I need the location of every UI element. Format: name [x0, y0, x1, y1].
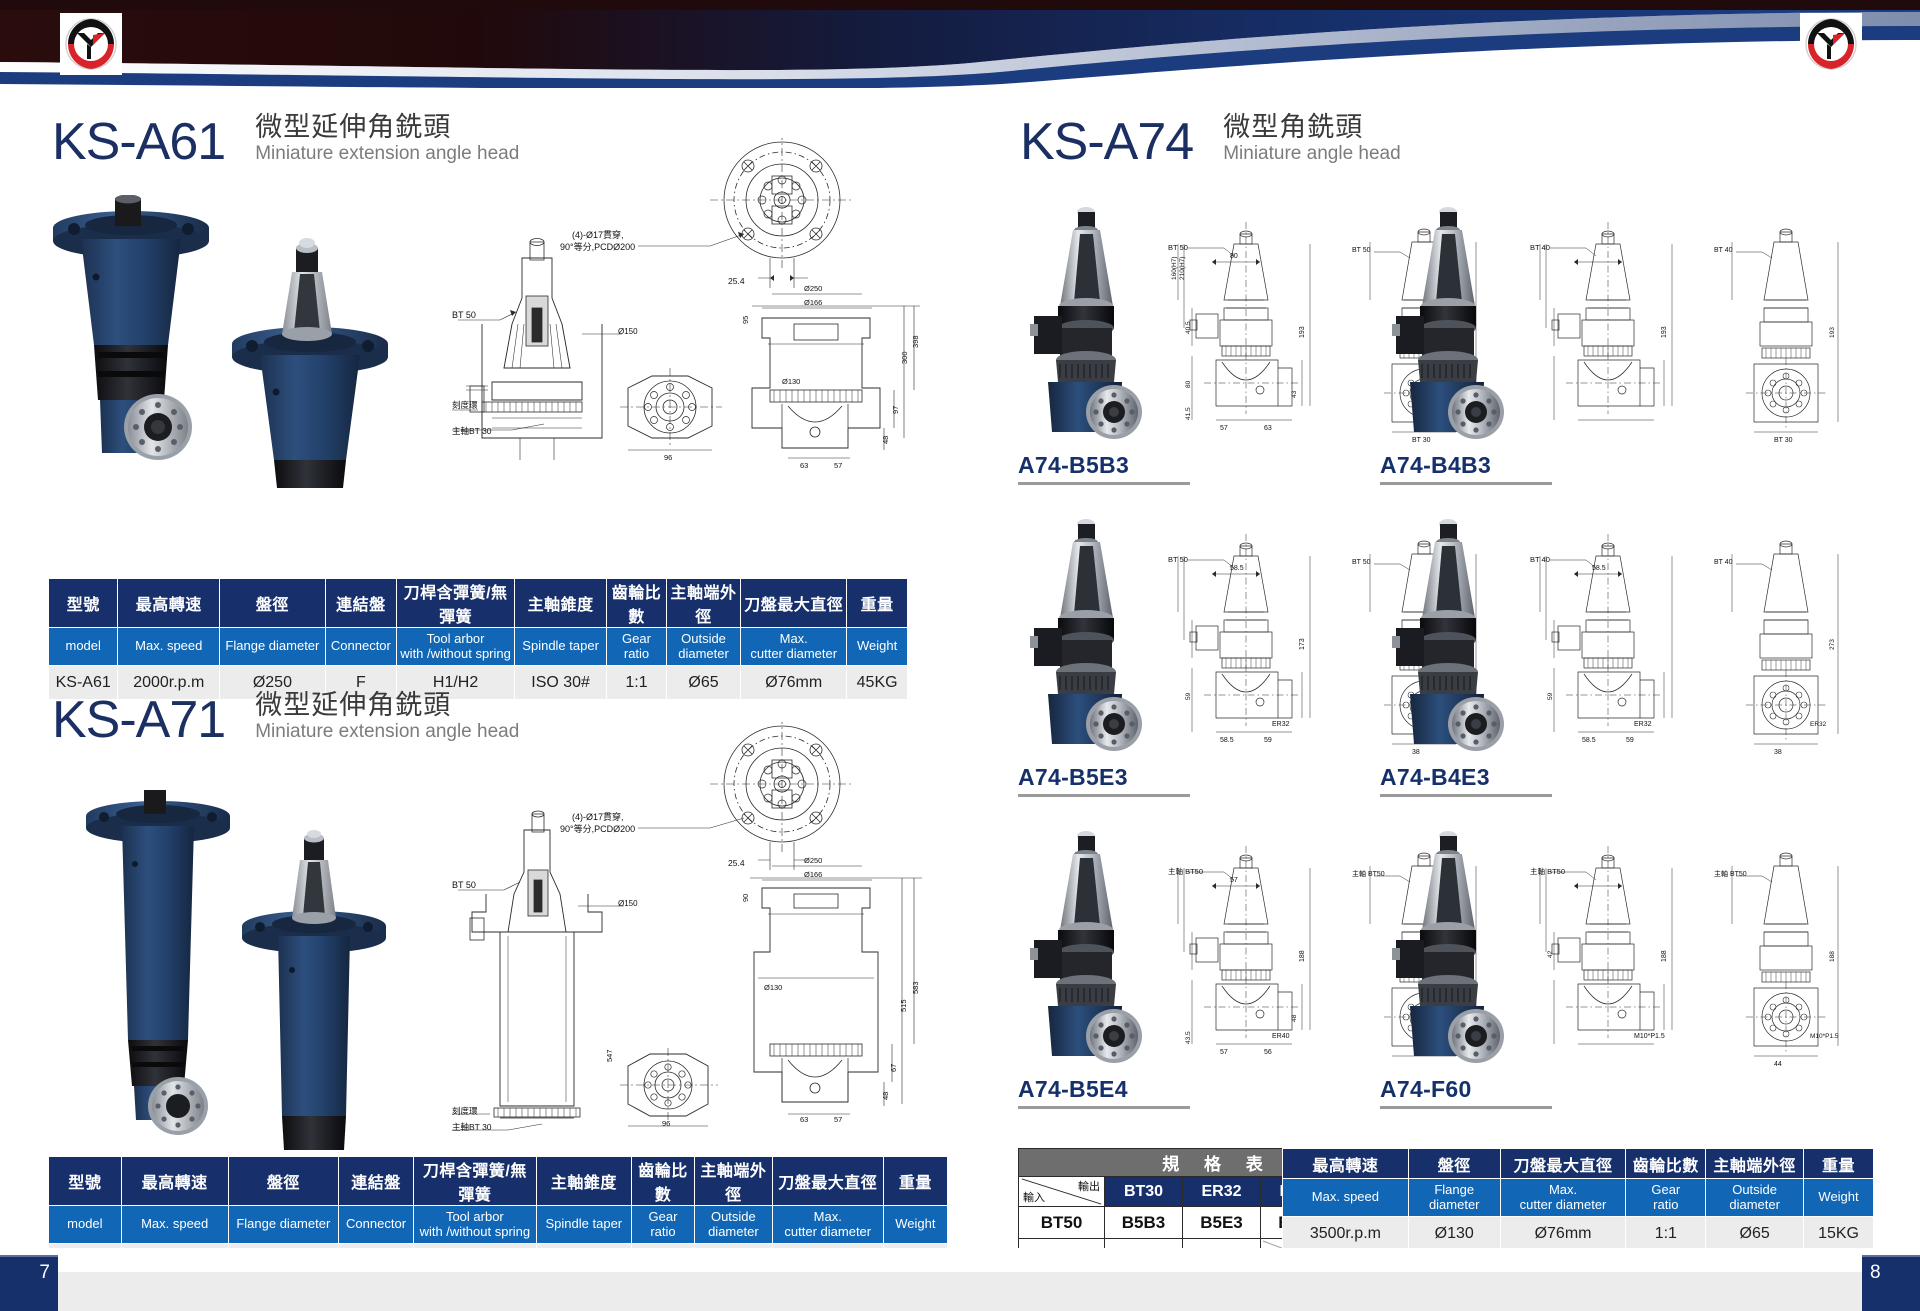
col-header-en: Connector [339, 1206, 414, 1244]
circular-y-emblem-icon [60, 13, 122, 75]
table-header-row-cn: 型號最高轉速盤徑連結盤刀桿含彈簧/無彈簧主軸錐度齒輪比數主軸端外徑刀盤最大直徑重… [49, 1157, 948, 1206]
technical-drawing-a74-f60: 主軸 BT50 188 42 M10*P1.5 [1530, 832, 1730, 1077]
table-cell: 15KG [1804, 1217, 1874, 1251]
col-header-en: Max.cutter diameter [1500, 1179, 1626, 1217]
drawing-collet-label: M10*P1.5 [1634, 1033, 1665, 1040]
col-header-cn: 最高轉速 [121, 1157, 228, 1206]
table-cell: Ø76mm [741, 666, 847, 700]
variant-block: BT 40 193 [1380, 200, 1730, 500]
dim-h-398: 398 [911, 335, 920, 348]
dim-flange-thickness: 25.4 [728, 276, 745, 286]
col-header-cn: 主軸端外徑 [666, 579, 740, 628]
section-title-ks-a61: KS-A61 微型延伸角銑頭 Miniature extension angle… [52, 112, 519, 168]
page-number-right: 8 [1862, 1255, 1920, 1311]
variant-block: BT 50 80 193 160(H7) 210(H7) 40.5 80 41.… [1018, 200, 1368, 500]
variant-label: A74-B4E3 [1380, 764, 1490, 790]
technical-drawing-ks-a61: (4)-Ø17貫穿, 90°等分,PCDØ200 25.4 BT 50 Ø150… [452, 138, 932, 478]
col-header-cn: 刀盤最大直徑 [772, 1157, 883, 1206]
variant-caption: A74-B5B3 [1018, 452, 1190, 489]
dim-w-57: 57 [834, 1115, 842, 1124]
technical-drawing-a74-b5e4: 主軸 BT50 57 188 43.5 57 56 48 ER40 [1168, 832, 1368, 1077]
dim-body-od: Ø166 [804, 870, 822, 879]
drawing-taper-label: 主軸 BT50 [1530, 866, 1565, 876]
dim-w-63: 63 [800, 1115, 808, 1124]
dim-w-57: 57 [834, 461, 842, 470]
table-row: 3500r.p.mØ130Ø76mm1:1Ø6515KG [1283, 1217, 1874, 1251]
variant-label: A74-B4B3 [1380, 452, 1491, 478]
col-header-en: Outsidediameter [1706, 1179, 1804, 1217]
dim-h-67: 67 [889, 1064, 898, 1072]
endview-taper-label: BT 40 [1714, 559, 1733, 566]
variant-caption: A74-F60 [1380, 1076, 1552, 1113]
variant-label: A74-B5B3 [1018, 452, 1129, 478]
matrix-cell: B5B3 [1105, 1207, 1183, 1239]
callout-spindle-bt30: 主軸BT 30 [452, 1122, 492, 1132]
matrix-col-header: BT30 [1105, 1177, 1183, 1207]
col-header-en: Max. speed [118, 628, 220, 666]
variant-label: A74-B5E3 [1018, 764, 1128, 790]
drawing-collet-label: ER32 [1272, 721, 1290, 728]
callout-spindle-bt30: 主軸BT 30 [452, 426, 492, 436]
col-header-cn: 主軸端外徑 [1706, 1149, 1804, 1179]
col-header-cn: 型號 [49, 1157, 122, 1206]
brand-logo-left [60, 13, 122, 75]
product-code: KS-A61 [52, 116, 225, 168]
col-header-en: Outsidediameter [666, 628, 740, 666]
variant-label: A74-F60 [1380, 1076, 1472, 1102]
technical-drawing-endview-a74-b4b3: BT 40 193 BT 30 [1714, 208, 1874, 453]
endview-taper-label: BT 40 [1714, 247, 1733, 254]
dim-h-90: 90 [741, 894, 750, 902]
matrix-axis-in: 輸入 [1023, 1189, 1045, 1205]
table-header-row-en: modelMax. speedFlange diameterConnectorT… [49, 1206, 948, 1244]
endview-taper-label: 主軸 BT50 [1714, 869, 1747, 878]
endview-taper-label: BT 50 [1352, 247, 1371, 254]
table-body: 3500r.p.mØ130Ø76mm1:1Ø6515KG [1283, 1217, 1874, 1251]
matrix-cell: B5E3 [1183, 1207, 1261, 1239]
table-cell: 1:1 [607, 666, 667, 700]
callout-dial-ring: 刻度環 [452, 400, 478, 410]
drawing-dim-80: 80 [1230, 253, 1238, 260]
drawing-dim-b: 80 [1185, 380, 1192, 388]
col-header-cn: 重量 [847, 579, 908, 628]
col-header-cn: 重量 [883, 1157, 947, 1206]
drawing-dim-b: 59 [1547, 692, 1554, 700]
col-header-cn: 盤徑 [1408, 1149, 1500, 1179]
variant-caption: A74-B4B3 [1380, 452, 1552, 489]
dim-h-95: 95 [741, 316, 750, 324]
col-header-en: Max. speed [1283, 1179, 1409, 1217]
drawing-dim-w1: 57 [1220, 1049, 1228, 1056]
caption-underline [1018, 482, 1190, 485]
label-bt50: BT 50 [452, 880, 476, 890]
table-cell: Ø65 [666, 666, 740, 700]
technical-drawing-a74-b4b3: BT 40 193 [1530, 208, 1730, 453]
col-header-en: model [49, 1206, 122, 1244]
note-bolt-line1: (4)-Ø17貫穿, [572, 811, 624, 822]
product-code: KS-A74 [1020, 116, 1193, 168]
dim-h-300: 300 [900, 351, 909, 364]
drawing-collet-label: ER32 [1634, 721, 1652, 728]
drawing-dim-height: 188 [1299, 950, 1306, 962]
drawing-taper-label: BT 50 [1168, 243, 1188, 252]
drawing-dim-w1: 57 [1220, 425, 1228, 432]
product-name-cn: 微型角銑頭 [1223, 112, 1400, 143]
endview-dim-width: 38 [1774, 749, 1782, 756]
spec-table-ks-a61: 型號最高轉速盤徑連結盤刀桿含彈簧/無彈簧主軸錐度齒輪比數主軸端外徑刀盤最大直徑重… [48, 578, 908, 700]
variant-block: BT 50 58.5 173 59 58.5 59 ER32 [1018, 512, 1368, 812]
table-header-row-cn: 型號最高轉速盤徑連結盤刀桿含彈簧/無彈簧主軸錐度齒輪比數主軸端外徑刀盤最大直徑重… [49, 579, 908, 628]
product-photo-a74-b5e4 [1018, 824, 1168, 1077]
col-header-cn: 最高轉速 [118, 579, 220, 628]
table-cell: Ø76mm [1500, 1217, 1626, 1251]
endview-collet: ER32 [1810, 721, 1827, 728]
matrix-axis-out: 輸出 [1078, 1178, 1100, 1194]
technical-drawing-a74-b5e3: BT 50 58.5 173 59 58.5 59 ER32 [1168, 520, 1368, 765]
technical-drawing-a74-b5b3: BT 50 80 193 160(H7) 210(H7) 40.5 80 41.… [1168, 208, 1368, 453]
col-header-en: Spindle taper [536, 1206, 631, 1244]
col-header-cn: 盤徑 [220, 579, 326, 628]
col-header-en: Tool arborwith /without spring [414, 1206, 537, 1244]
product-photo-ks-a71-angle [222, 830, 412, 1150]
col-header-cn: 連結盤 [339, 1157, 414, 1206]
table-cell: 45KG [847, 666, 908, 700]
col-header-en: Tool arborwith /without spring [397, 628, 515, 666]
table-header-row-en: modelMax. speedFlange diameterConnectorT… [49, 628, 908, 666]
product-name-en: Miniature angle head [1223, 143, 1400, 166]
product-photo-a74-b5e3 [1018, 512, 1168, 765]
product-photo-a74-b4e3 [1380, 512, 1530, 765]
variant-label: A74-B5E4 [1018, 1076, 1128, 1102]
col-header-cn: 齒輪比數 [631, 1157, 694, 1206]
dim-h-48: 48 [881, 1092, 890, 1100]
drawing-dim-80: 58.5 [1592, 565, 1606, 572]
drawing-dim-height: 173 [1299, 638, 1306, 650]
variant-block: 主軸 BT50 57 188 43.5 57 56 48 ER40 [1018, 824, 1368, 1124]
col-header-cn: 重量 [1804, 1149, 1874, 1179]
drawing-dim-bore1: 160(H7) [1171, 257, 1178, 280]
endview-dim-width: 44 [1774, 1061, 1782, 1068]
col-header-cn: 刀盤最大直徑 [1500, 1149, 1626, 1179]
table-cell: 3500r.p.m [1283, 1217, 1409, 1251]
spec-table-ks-a74: 最高轉速盤徑刀盤最大直徑齒輪比數主軸端外徑重量 Max. speedFlange… [1282, 1148, 1874, 1251]
table-cell: ISO 30# [515, 666, 607, 700]
drawing-dim-b: 59 [1185, 692, 1192, 700]
variant-block: BT 40 58.5 59 58.5 59 ER32 [1380, 512, 1730, 812]
technical-drawing-a74-b4e3: BT 40 58.5 59 58.5 59 ER32 [1530, 520, 1730, 765]
drawing-dim-d: 48 [1291, 1014, 1298, 1022]
drawing-dim-80: 57 [1230, 877, 1238, 884]
matrix-col-header: ER32 [1183, 1177, 1261, 1207]
dim-w-96: 96 [662, 1119, 670, 1128]
dim-w-63: 63 [800, 461, 808, 470]
col-header-en: Weight [1804, 1179, 1874, 1217]
callout-dial-ring: 刻度環 [452, 1106, 478, 1116]
col-header-en: Gearratio [607, 628, 667, 666]
col-header-en: Max.cutter diameter [741, 628, 847, 666]
col-header-en: Weight [883, 1206, 947, 1244]
caption-underline [1018, 794, 1190, 797]
drawing-dim-c: 41.5 [1185, 407, 1192, 420]
drawing-dim-bore2: 210(H7) [1179, 257, 1186, 280]
dim-h-583: 583 [911, 981, 920, 994]
product-photo-ks-a61-angle [210, 238, 410, 488]
caption-underline [1380, 794, 1552, 797]
footer-white-band [0, 1248, 1920, 1272]
col-header-cn: 盤徑 [228, 1157, 338, 1206]
drawing-dim-w2: 59 [1264, 737, 1272, 744]
drawing-taper-label: BT 40 [1530, 243, 1550, 252]
circular-y-emblem-icon [1800, 13, 1862, 75]
matrix-row-header: BT50 [1019, 1207, 1105, 1239]
matrix-axis-corner: 輸出 輸入 [1019, 1177, 1105, 1207]
col-header-cn: 主軸錐度 [515, 579, 607, 628]
col-header-en: Flange diameter [220, 628, 326, 666]
drawing-dim-height: 193 [1299, 326, 1306, 338]
col-header-en: Outsidediameter [695, 1206, 773, 1244]
col-header-cn: 主軸端外徑 [695, 1157, 773, 1206]
col-header-en: Gearratio [1626, 1179, 1706, 1217]
product-photo-a74-b4b3 [1380, 200, 1530, 453]
drawing-collet-label: ER40 [1272, 1033, 1290, 1040]
product-photo-a74-f60 [1380, 824, 1530, 1077]
product-name-cn: 微型延伸角銑頭 [255, 690, 519, 721]
drawing-dim-a: 40.5 [1185, 321, 1192, 334]
table-cell: 1:1 [1626, 1217, 1706, 1251]
variant-caption: A74-B5E3 [1018, 764, 1190, 801]
dim-h-547: 547 [605, 1049, 614, 1062]
col-header-en: Flangediameter [1408, 1179, 1500, 1217]
col-header-cn: 最高轉速 [1283, 1149, 1409, 1179]
col-header-cn: 刀桿含彈簧/無彈簧 [414, 1157, 537, 1206]
caption-underline [1380, 1106, 1552, 1109]
page-number-left: 7 [0, 1255, 58, 1311]
col-header-en: Max.cutter diameter [772, 1206, 883, 1244]
col-header-en: model [49, 628, 118, 666]
drawing-dim-w2: 59 [1626, 737, 1634, 744]
technical-drawing-endview-a74-b4e3: BT 40 273 38 ER32 [1714, 520, 1874, 765]
drawing-dim-w1: 58.5 [1582, 737, 1596, 744]
col-header-en: Gearratio [631, 1206, 694, 1244]
drawing-taper-label: 主軸 BT50 [1168, 866, 1203, 876]
drawing-dim-height: 188 [1661, 950, 1668, 962]
drawing-dim-a: 42 [1547, 950, 1554, 958]
col-header-en: Flange diameter [228, 1206, 338, 1244]
dim-spigot: Ø150 [618, 899, 638, 908]
section-title-ks-a74: KS-A74 微型角銑頭 Miniature angle head [1020, 112, 1401, 168]
col-header-cn: 齒輪比數 [1626, 1149, 1706, 1179]
col-header-en: Connector [325, 628, 396, 666]
col-header-cn: 型號 [49, 579, 118, 628]
caption-underline [1380, 482, 1552, 485]
endview-dim-width: BT 30 [1774, 437, 1793, 444]
col-header-en: Max. speed [121, 1206, 228, 1244]
drawing-taper-label: BT 40 [1530, 555, 1550, 564]
dim-h-515: 515 [899, 999, 908, 1012]
drawing-dim-w2: 63 [1264, 425, 1272, 432]
endview-dim-height: 273 [1829, 639, 1836, 650]
table-cell: Ø130 [1408, 1217, 1500, 1251]
dim-body-od: Ø166 [804, 298, 822, 307]
note-bolt-line2: 90°等分,PCDØ200 [560, 823, 635, 834]
dim-spigot: Ø150 [618, 327, 638, 336]
dim-flange-od: Ø250 [804, 284, 822, 293]
dim-h-48: 48 [881, 436, 890, 444]
drawing-dim-w1: 58.5 [1220, 737, 1234, 744]
drawing-dim-80: 58.5 [1230, 565, 1244, 572]
endview-collet: M10*P1.5 [1810, 1033, 1839, 1040]
variant-caption: A74-B4E3 [1380, 764, 1552, 801]
dim-w-96: 96 [664, 453, 672, 462]
col-header-cn: 連結盤 [325, 579, 396, 628]
col-header-en: Spindle taper [515, 628, 607, 666]
technical-drawing-ks-a71: (4)-Ø17貫穿, 90°等分,PCDØ200 25.4 BT 50 Ø150… [452, 722, 932, 1142]
table-header-row-cn: 最高轉速盤徑刀盤最大直徑齒輪比數主軸端外徑重量 [1283, 1149, 1874, 1179]
drawing-dim-height: 193 [1661, 326, 1668, 338]
section-title-ks-a71: KS-A71 微型延伸角銑頭 Miniature extension angle… [52, 690, 519, 746]
endview-dim-height: 193 [1829, 327, 1836, 338]
dim-flange-thickness: 25.4 [728, 858, 745, 868]
col-header-cn: 刀桿含彈簧/無彈簧 [397, 579, 515, 628]
brand-logo-right [1800, 13, 1862, 75]
col-header-cn: 主軸錐度 [536, 1157, 631, 1206]
endview-dim-height: 188 [1829, 951, 1836, 962]
drawing-dim-c: 43.5 [1185, 1031, 1192, 1044]
dim-body-small: Ø130 [782, 377, 800, 386]
table-header-row-en: Max. speedFlangediameterMax.cutter diame… [1283, 1179, 1874, 1217]
dim-body-small: Ø130 [764, 983, 782, 992]
variant-caption: A74-B5E4 [1018, 1076, 1190, 1113]
drawing-dim-d: 43 [1291, 390, 1298, 398]
technical-drawing-endview-a74-f60: 主軸 BT50 188 44 M10*P1.5 [1714, 832, 1874, 1077]
label-bt50: BT 50 [452, 310, 476, 320]
footer-gray-band [0, 1272, 1920, 1311]
table-cell: Ø65 [1706, 1217, 1804, 1251]
col-header-en: Weight [847, 628, 908, 666]
caption-underline [1018, 1106, 1190, 1109]
note-bolt-line1: (4)-Ø17貫穿, [572, 229, 624, 240]
top-banner [0, 0, 1920, 88]
col-header-cn: 刀盤最大直徑 [741, 579, 847, 628]
drawing-taper-label: BT 50 [1168, 555, 1188, 564]
dim-flange-od: Ø250 [804, 856, 822, 865]
endview-taper-label: BT 50 [1352, 559, 1371, 566]
dim-h-97: 97 [891, 406, 900, 414]
drawing-dim-w2: 56 [1264, 1049, 1272, 1056]
product-code: KS-A71 [52, 694, 225, 746]
variant-block: 主軸 BT50 188 42 M10*P1.5 [1380, 824, 1730, 1124]
product-photo-a74-b5b3 [1018, 200, 1168, 453]
col-header-cn: 齒輪比數 [607, 579, 667, 628]
note-bolt-line2: 90°等分,PCDØ200 [560, 241, 635, 252]
